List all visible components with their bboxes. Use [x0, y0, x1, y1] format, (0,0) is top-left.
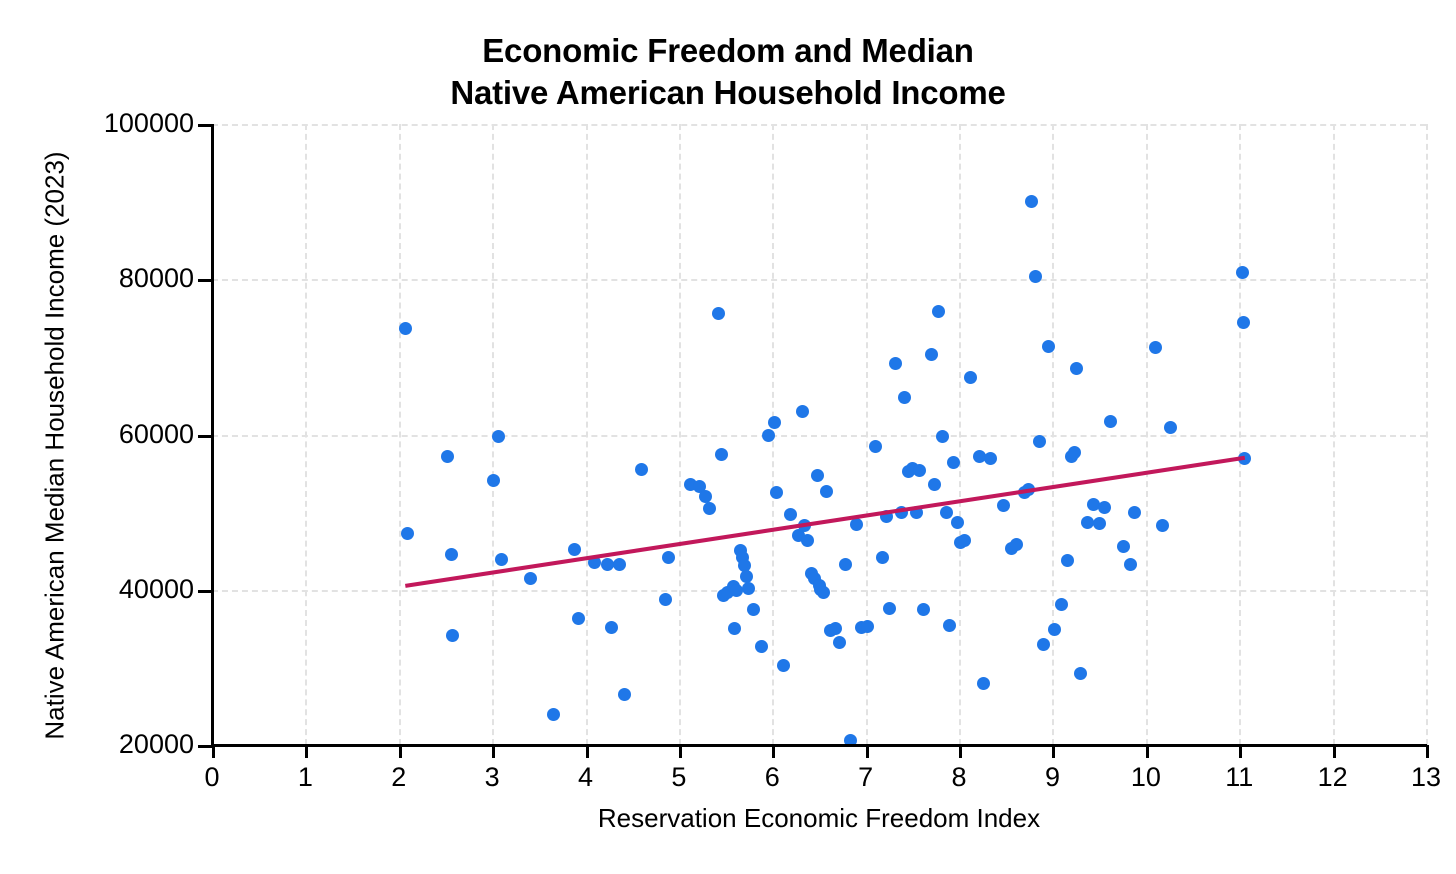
plot-area — [212, 124, 1426, 745]
data-point — [730, 584, 743, 597]
data-point — [618, 688, 631, 701]
y-axis-tick — [198, 124, 212, 127]
x-axis-tick-label: 12 — [1293, 762, 1373, 792]
data-point — [613, 558, 626, 571]
data-point — [712, 307, 725, 320]
x-axis-tick — [1426, 745, 1429, 758]
data-point — [850, 518, 863, 531]
data-point — [401, 527, 414, 540]
data-point — [958, 534, 971, 547]
data-point — [1022, 483, 1035, 496]
data-point — [964, 371, 977, 384]
x-axis-tick — [492, 745, 495, 758]
data-point — [487, 474, 500, 487]
x-axis-tick-label: 0 — [172, 762, 252, 792]
data-point — [445, 548, 458, 561]
data-point — [762, 429, 775, 442]
data-point — [820, 485, 833, 498]
x-axis-tick — [1052, 745, 1055, 758]
data-point — [1055, 598, 1068, 611]
y-axis-tick — [198, 279, 212, 282]
data-point — [588, 556, 601, 569]
x-axis-tick-label: 1 — [265, 762, 345, 792]
data-point — [1156, 519, 1169, 532]
x-axis-tick — [305, 745, 308, 758]
data-point — [811, 469, 824, 482]
data-point — [1104, 415, 1117, 428]
data-point — [768, 416, 781, 429]
data-point — [997, 499, 1010, 512]
data-point — [777, 659, 790, 672]
gridline-horizontal — [212, 279, 1426, 281]
x-axis-tick — [866, 745, 869, 758]
x-axis-title: Reservation Economic Freedom Index — [212, 803, 1426, 834]
data-point — [796, 405, 809, 418]
data-point — [399, 322, 412, 335]
data-point — [1093, 517, 1106, 530]
data-point — [910, 506, 923, 519]
y-axis-tick-label: 60000 — [0, 421, 194, 448]
data-point — [1149, 341, 1162, 354]
x-axis-tick-label: 4 — [546, 762, 626, 792]
chart-title: Economic Freedom and Median Native Ameri… — [0, 30, 1456, 114]
x-axis-tick-label: 3 — [452, 762, 532, 792]
x-axis-tick — [959, 745, 962, 758]
x-axis-tick — [1146, 745, 1149, 758]
x-axis-tick — [679, 745, 682, 758]
data-point — [524, 572, 537, 585]
data-point — [715, 448, 728, 461]
x-axis-tick-label: 10 — [1106, 762, 1186, 792]
chart-figure: Economic Freedom and Median Native Ameri… — [0, 0, 1456, 874]
data-point — [913, 464, 926, 477]
data-point — [662, 551, 675, 564]
data-point — [547, 708, 560, 721]
x-axis-tick-label: 11 — [1199, 762, 1279, 792]
x-axis-tick — [1239, 745, 1242, 758]
data-point — [703, 502, 716, 515]
data-point — [880, 510, 893, 523]
data-point — [495, 553, 508, 566]
y-axis-tick-label: 40000 — [0, 576, 194, 603]
data-point — [801, 534, 814, 547]
y-axis-tick-label: 80000 — [0, 265, 194, 292]
data-point — [1117, 540, 1130, 553]
data-point — [1068, 446, 1081, 459]
y-axis-tick-label: 100000 — [0, 110, 194, 137]
x-axis-tick — [586, 745, 589, 758]
data-point — [883, 602, 896, 615]
x-axis-tick — [399, 745, 402, 758]
data-point — [1033, 435, 1046, 448]
data-point — [572, 612, 585, 625]
y-axis-tick — [198, 745, 212, 748]
data-point — [943, 619, 956, 632]
x-axis-tick-label: 9 — [1012, 762, 1092, 792]
data-point — [1098, 501, 1111, 514]
data-point — [1237, 316, 1250, 329]
data-point — [839, 558, 852, 571]
x-axis-tick — [772, 745, 775, 758]
data-point — [1236, 266, 1249, 279]
data-point — [568, 543, 581, 556]
data-point — [977, 677, 990, 690]
data-point — [1025, 195, 1038, 208]
data-point — [798, 519, 811, 532]
x-axis-tick-label: 2 — [359, 762, 439, 792]
data-point — [925, 348, 938, 361]
data-point — [446, 629, 459, 642]
data-point — [601, 558, 614, 571]
data-point — [1010, 538, 1023, 551]
gridline-horizontal — [212, 124, 1426, 126]
data-point — [1124, 558, 1137, 571]
x-axis-tick — [212, 745, 215, 758]
data-point — [659, 593, 672, 606]
x-axis-line — [211, 744, 1427, 747]
data-point — [747, 603, 760, 616]
data-point — [784, 508, 797, 521]
x-axis-tick — [1333, 745, 1336, 758]
data-point — [917, 603, 930, 616]
data-point — [441, 450, 454, 463]
data-point — [770, 486, 783, 499]
data-point — [1048, 623, 1061, 636]
data-point — [817, 586, 830, 599]
x-axis-tick-label: 7 — [826, 762, 906, 792]
data-point — [940, 506, 953, 519]
data-point — [984, 452, 997, 465]
data-point — [755, 640, 768, 653]
data-point — [861, 620, 874, 633]
data-point — [889, 357, 902, 370]
data-point — [932, 305, 945, 318]
data-point — [876, 551, 889, 564]
data-point — [1070, 362, 1083, 375]
data-point — [898, 391, 911, 404]
y-axis-tick — [198, 590, 212, 593]
data-point — [1128, 506, 1141, 519]
trendline-segment — [405, 458, 1245, 586]
data-point — [895, 506, 908, 519]
data-point — [728, 622, 741, 635]
data-point — [1061, 554, 1074, 567]
data-point — [1074, 667, 1087, 680]
data-point — [605, 621, 618, 634]
y-axis-tick-label: 20000 — [0, 731, 194, 758]
gridline-horizontal — [212, 435, 1426, 437]
data-point — [1037, 638, 1050, 651]
data-point — [829, 622, 842, 635]
data-point — [833, 636, 846, 649]
data-point — [869, 440, 882, 453]
data-point — [1029, 270, 1042, 283]
data-point — [1238, 452, 1251, 465]
gridline-vertical — [1426, 124, 1428, 745]
x-axis-tick-label: 6 — [732, 762, 812, 792]
x-axis-tick-label: 5 — [639, 762, 719, 792]
data-point — [635, 463, 648, 476]
data-point — [951, 516, 964, 529]
data-point — [740, 570, 753, 583]
data-point — [928, 478, 941, 491]
x-axis-tick-label: 8 — [919, 762, 999, 792]
data-point — [947, 456, 960, 469]
data-point — [936, 430, 949, 443]
data-point — [742, 582, 755, 595]
data-point — [492, 430, 505, 443]
x-axis-tick-label: 13 — [1386, 762, 1456, 792]
data-point — [1164, 421, 1177, 434]
y-axis-tick — [198, 435, 212, 438]
